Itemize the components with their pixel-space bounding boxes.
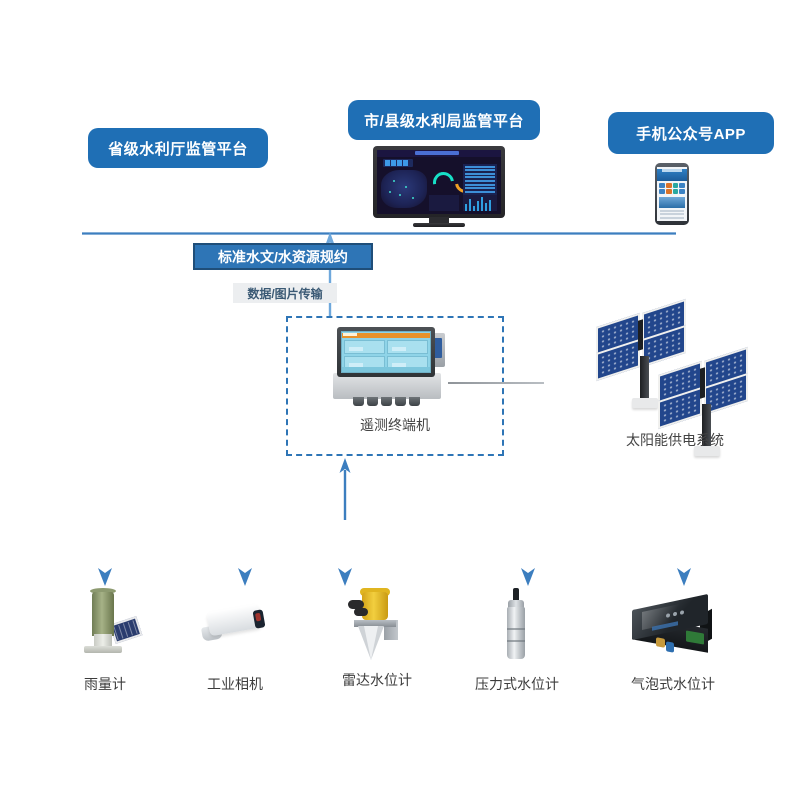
sensor-label: 雨量计 bbox=[40, 674, 170, 694]
solar-caption: 太阳能供电系统 bbox=[580, 430, 770, 450]
dashboard-bar-chart bbox=[463, 195, 497, 211]
industrial-camera-icon bbox=[170, 582, 300, 668]
cable-gland bbox=[409, 397, 420, 406]
dashboard-screen bbox=[377, 150, 501, 214]
diagram-canvas: 省级水利厅监管平台 市/县级水利局监管平台 手机公众号APP bbox=[0, 0, 800, 800]
rtu-lid bbox=[337, 327, 435, 377]
cable-gland bbox=[367, 397, 378, 406]
antenna-rod-icon bbox=[448, 382, 544, 384]
cable-gland bbox=[395, 397, 406, 406]
sensor-label: 工业相机 bbox=[170, 674, 300, 694]
smartphone-illustration bbox=[655, 163, 689, 225]
cable-gland bbox=[353, 397, 364, 406]
protocol-badge: 标准水文/水资源规约 bbox=[193, 243, 373, 270]
phone-app-header bbox=[657, 169, 687, 181]
rtu-caption: 遥测终端机 bbox=[286, 415, 504, 435]
platform-button-mobile-app[interactable]: 手机公众号APP bbox=[608, 112, 774, 154]
phone-body bbox=[655, 163, 689, 225]
dashboard-kpi-group bbox=[383, 159, 413, 167]
phone-list bbox=[657, 210, 687, 219]
sensor-radar-level: 雷达水位计 bbox=[312, 578, 442, 690]
dashboard-line-chart bbox=[429, 195, 459, 211]
sensor-label: 压力式水位计 bbox=[452, 674, 582, 694]
phone-screen bbox=[657, 167, 687, 221]
data-transmission-label: 数据/图片传输 bbox=[233, 283, 337, 303]
sensor-industrial-camera: 工业相机 bbox=[170, 582, 300, 694]
platform-button-provincial[interactable]: 省级水利厅监管平台 bbox=[88, 128, 268, 168]
monitor-illustration bbox=[373, 146, 505, 224]
monitor-base bbox=[413, 223, 465, 227]
sensor-label: 气泡式水位计 bbox=[608, 674, 738, 694]
pressure-level-sensor-icon bbox=[452, 582, 582, 668]
rtu-lcd-screen bbox=[341, 331, 431, 373]
rain-gauge-icon bbox=[40, 582, 170, 668]
radar-level-gauge-icon bbox=[312, 578, 442, 664]
phone-icon-grid bbox=[657, 181, 687, 196]
bubbler-level-gauge-icon bbox=[608, 582, 738, 668]
dashboard-china-map bbox=[381, 170, 427, 208]
rtu-screen-statusbar bbox=[342, 367, 430, 372]
dashboard-title-bar bbox=[415, 151, 459, 155]
sensor-pressure-level: 压力式水位计 bbox=[452, 582, 582, 694]
monitor-bezel bbox=[373, 146, 505, 218]
platform-button-city-county[interactable]: 市/县级水利局监管平台 bbox=[348, 100, 540, 140]
phone-banner bbox=[659, 197, 685, 208]
rtu-device-illustration bbox=[333, 327, 449, 405]
cable-gland bbox=[381, 397, 392, 406]
dashboard-header bbox=[377, 150, 501, 157]
sensor-label: 雷达水位计 bbox=[312, 670, 442, 690]
dashboard-table bbox=[463, 164, 497, 198]
sensor-rain-gauge: 雨量计 bbox=[40, 582, 170, 694]
sensor-bubbler-level: 气泡式水位计 bbox=[608, 582, 738, 694]
